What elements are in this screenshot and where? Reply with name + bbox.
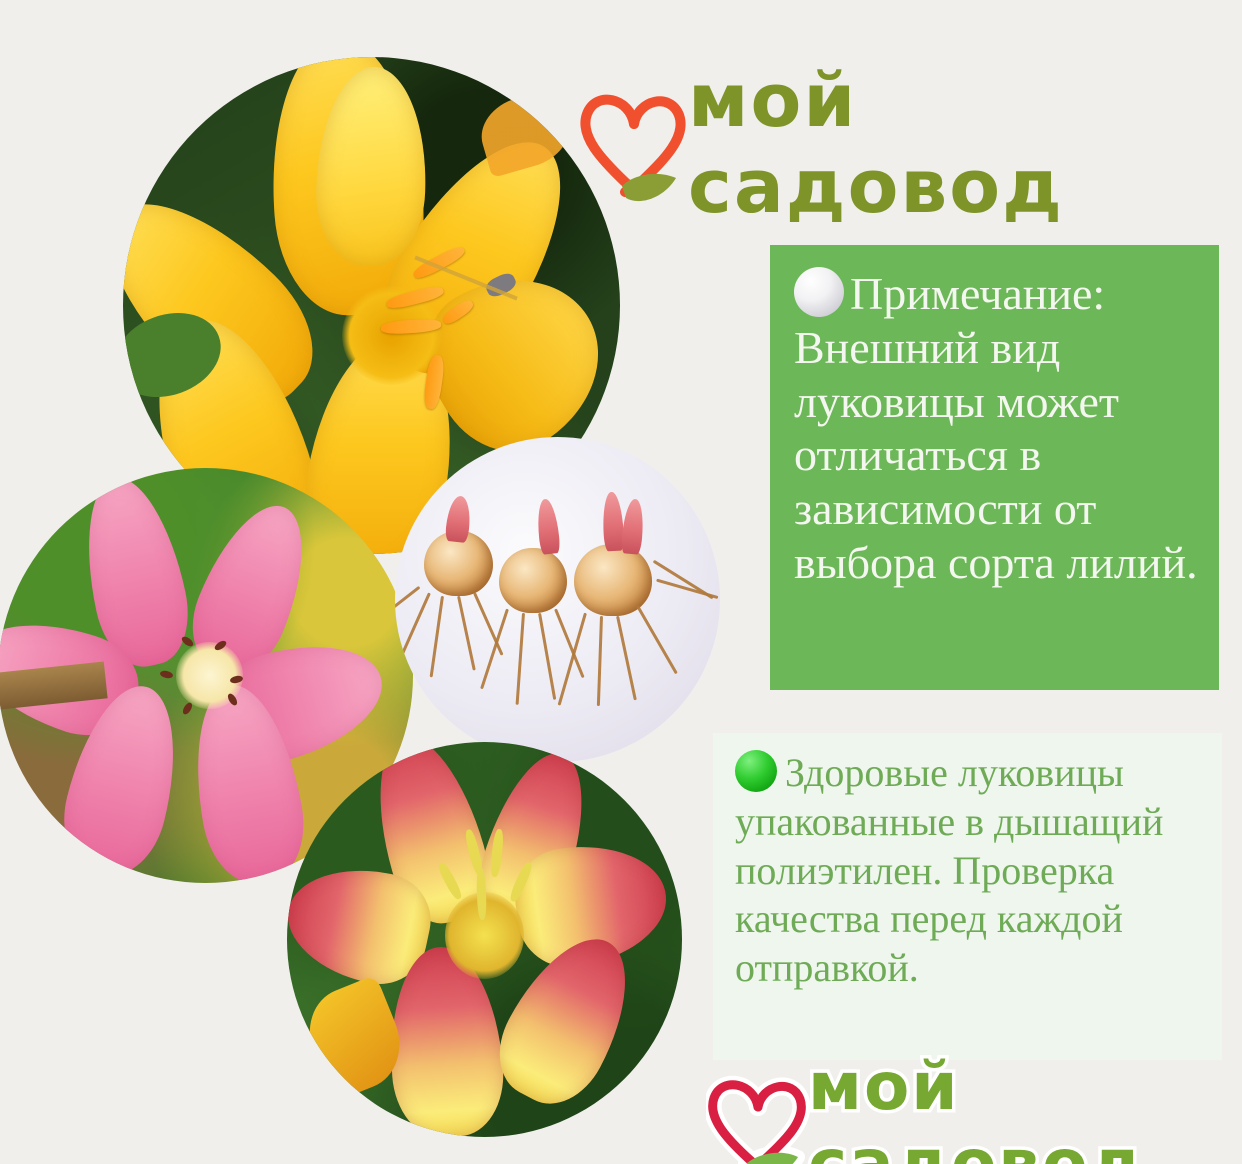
photo-bicolor-lily — [287, 742, 682, 1137]
heart-icon — [706, 1069, 810, 1164]
quality-panel: Здоровые луковицы упакованные в дышащий … — [713, 733, 1222, 1060]
promo-canvas: Примечание: Внешний вид луковицы может о… — [0, 0, 1242, 1164]
note-text: Внешний вид луковицы может отличаться в … — [794, 322, 1198, 588]
silver-circle-bullet-icon — [794, 267, 844, 317]
note-heading: Примечание: — [850, 268, 1105, 319]
quality-text: Здоровые луковицы упакованные в дышащий … — [735, 750, 1163, 990]
photo-lily-bulbs — [395, 437, 720, 762]
logo-mark — [706, 1069, 810, 1164]
logo-wordmark: мой садовод — [688, 58, 1242, 230]
logo-wordmark: мой садовод — [808, 1048, 1242, 1164]
quality-panel-body: Здоровые луковицы упакованные в дышащий … — [713, 733, 1222, 993]
brand-logo-bottom[interactable]: мой садовод — [706, 1048, 1242, 1164]
note-panel: Примечание: Внешний вид луковицы может о… — [770, 245, 1219, 690]
heart-icon — [578, 82, 690, 207]
leaf-icon — [622, 173, 676, 200]
green-circle-bullet-icon — [735, 750, 777, 792]
brand-logo-top[interactable]: мой садовод — [578, 58, 1242, 230]
note-panel-body: Примечание: Внешний вид луковицы может о… — [770, 245, 1219, 590]
logo-mark — [578, 82, 690, 207]
